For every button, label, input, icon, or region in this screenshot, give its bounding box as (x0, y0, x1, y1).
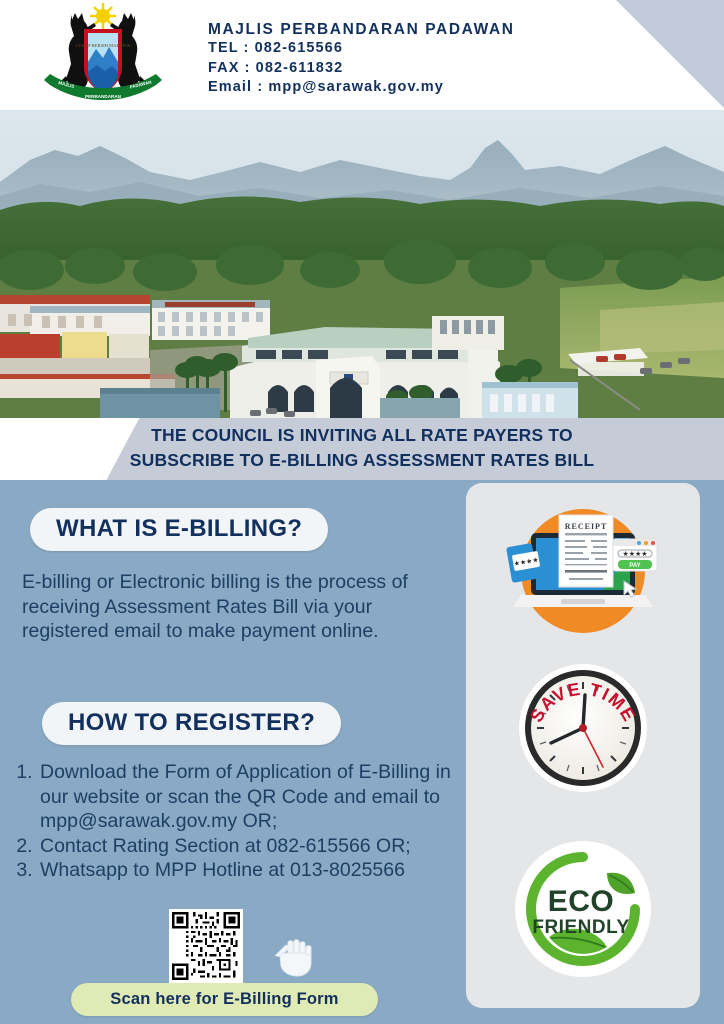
heading-label-what-is-ebilling: WHAT IS E-BILLING? (56, 515, 302, 542)
banner-title-line2: SUBSCRIBE TO E-BILLING ASSESSMENT RATES … (0, 448, 724, 473)
org-contact-block: MAJLIS PERBANDARAN PADAWAN TEL : 082-615… (208, 20, 515, 98)
hero-photo-aerial-town (0, 110, 724, 418)
registration-steps-list: Download the Form of Application of E-Bi… (16, 760, 468, 883)
org-email: Email : mpp@sarawak.gov.my (208, 78, 515, 98)
pay-label: PAY (629, 563, 640, 569)
pointing-hand-cursor-icon (272, 934, 314, 978)
list-item: Contact Rating Section at 082-615566 OR; (38, 834, 468, 859)
receipt-label: RECEIPT (565, 522, 608, 531)
heading-pill-what-is-ebilling: WHAT IS E-BILLING? (30, 508, 328, 551)
eco-friendly-badge-illustration: ECO FRIENDLY (466, 835, 700, 987)
save-time-clock-illustration: SAVE TIME (466, 655, 700, 807)
svg-text:CEKAP BERSIH MAKMUR: CEKAP BERSIH MAKMUR (76, 43, 132, 48)
section-how-to-register-heading: HOW TO REGISTER? (42, 702, 341, 745)
online-payment-receipt-illustration: RECEIPT ★★★★ PAY (466, 493, 700, 653)
header-corner-decoration (616, 0, 724, 108)
mpp-coat-of-arms-logo: CEKAP BERSIH MAKMUR MAJLIS PERBANDARAN P… (28, 2, 178, 107)
heading-pill-how-to-register: HOW TO REGISTER? (42, 702, 341, 745)
poster-root: CEKAP BERSIH MAKMUR MAJLIS PERBANDARAN P… (0, 0, 724, 1024)
page-header: CEKAP BERSIH MAKMUR MAJLIS PERBANDARAN P… (0, 0, 724, 110)
qr-code-icon[interactable] (169, 909, 243, 983)
org-tel: TEL : 082-615566 (208, 39, 515, 59)
eco-label-line2: FRIENDLY (532, 917, 629, 938)
org-fax: FAX : 082-611832 (208, 59, 515, 79)
list-item: Whatsapp to MPP Hotline at 013-8025566 (38, 858, 468, 883)
ebilling-description: E-billing or Electronic billing is the p… (22, 570, 442, 644)
eco-label-line1: ECO (548, 885, 615, 918)
banner-title: THE COUNCIL IS INVITING ALL RATE PAYERS … (0, 423, 724, 473)
section-what-is-ebilling-heading: WHAT IS E-BILLING? (30, 508, 328, 551)
scan-here-button-label: Scan here for E-Billing Form (110, 990, 338, 1009)
list-item: Download the Form of Application of E-Bi… (38, 760, 468, 834)
heading-label-how-to-register: HOW TO REGISTER? (68, 709, 315, 736)
scan-here-button[interactable]: Scan here for E-Billing Form (71, 983, 378, 1016)
org-name: MAJLIS PERBANDARAN PADAWAN (208, 20, 515, 39)
banner-title-line1: THE COUNCIL IS INVITING ALL RATE PAYERS … (0, 423, 724, 448)
svg-text:PERBANDARAN: PERBANDARAN (85, 94, 122, 99)
title-banner: THE COUNCIL IS INVITING ALL RATE PAYERS … (0, 418, 724, 480)
benefits-panel: RECEIPT ★★★★ PAY (466, 483, 700, 1008)
svg-text:★★★★: ★★★★ (622, 550, 647, 558)
